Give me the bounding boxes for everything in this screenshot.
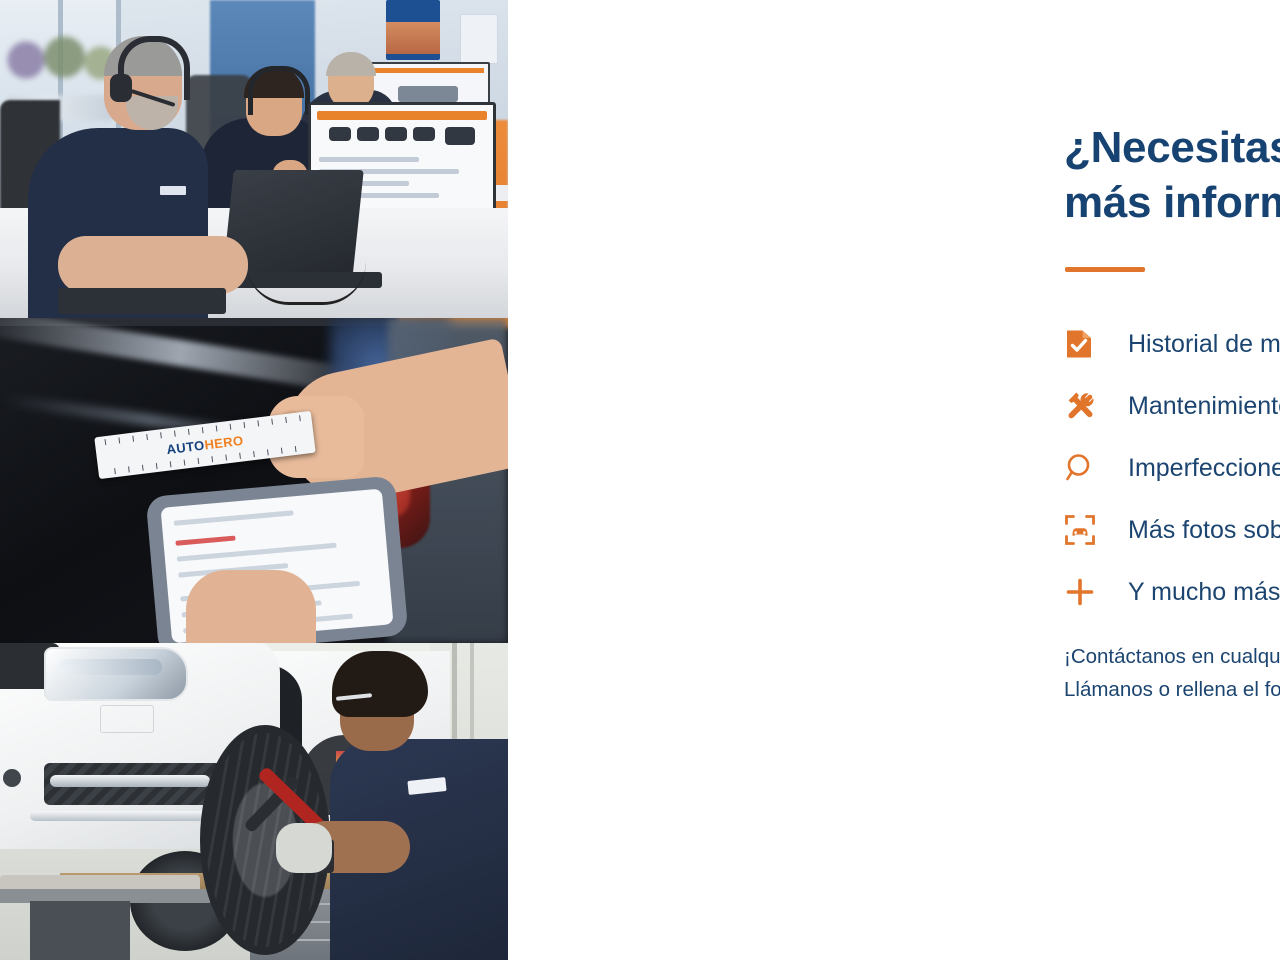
feature-label: Y mucho más: [1110, 580, 1280, 605]
uniform-logo: [160, 186, 186, 195]
agent-three-hair: [326, 52, 376, 76]
trees-outside: [4, 30, 114, 90]
contact-paragraph-line-2: Llámanos o rellena el formulario de cont…: [1064, 673, 1280, 706]
feature-item-more-photos: Más fotos sobre el coche: [1064, 499, 1280, 561]
feature-label: Imperfecciones: [1110, 456, 1280, 481]
checklist-icon: [1064, 327, 1110, 361]
work-glove: [276, 823, 332, 873]
car-inspection-ruler-photo: AUTOHERO: [0, 318, 508, 643]
technician-hair: [332, 651, 428, 717]
page-title: ¿Necesitas más información?: [1064, 120, 1280, 231]
feature-list: Historial de mantenimientos Mantenimient…: [1064, 313, 1280, 623]
wall-notice: [460, 14, 498, 64]
call-center-agents-photo: [0, 0, 508, 318]
magnifier-icon: [1064, 452, 1110, 484]
feature-item-imperfections: Imperfecciones: [1064, 437, 1280, 499]
fog-light: [3, 769, 21, 787]
tablet-on-desk: [58, 288, 226, 314]
photo-column: AUTOHERO: [0, 0, 508, 960]
feature-label: Mantenimiento realizado: [1110, 394, 1280, 419]
plus-icon: [1064, 576, 1110, 608]
autohero-ruler-logo: AUTOHERO: [166, 433, 245, 457]
feature-item-maintenance-done: Mantenimiento realizado: [1064, 375, 1280, 437]
inspector-second-hand: [186, 570, 316, 643]
car-lift-base: [30, 901, 130, 960]
feature-label: Más fotos sobre el coche: [1110, 518, 1280, 543]
page-title-line-2: más información?: [1064, 175, 1280, 230]
feature-item-service-history: Historial de mantenimientos: [1064, 313, 1280, 375]
contact-paragraph-line-1: ¡Contáctanos en cualquier momento para m…: [1064, 640, 1280, 673]
license-plate-area: [100, 705, 154, 733]
feature-label: Historial de mantenimientos: [1110, 332, 1280, 357]
tyre-service-photo: [0, 643, 508, 960]
chrome-trim: [50, 775, 210, 787]
contact-paragraph: ¡Contáctanos en cualquier momento para m…: [1064, 640, 1280, 706]
title-divider: [1065, 267, 1145, 272]
agent-one-arms: [58, 236, 248, 294]
headset-earcup: [110, 74, 132, 102]
car-photo-frame-icon: [1064, 514, 1110, 546]
info-panel-page: AUTOHERO: [0, 0, 1280, 960]
tools-icon: [1064, 389, 1110, 423]
info-content: Estamos encantados de darte más informac…: [508, 0, 1280, 960]
page-title-line-1: ¿Necesitas: [1064, 120, 1280, 175]
headlight-inner: [58, 659, 162, 675]
feature-item-much-more: Y mucho más: [1064, 561, 1280, 623]
wall-poster-image: [386, 22, 440, 54]
agent-two-headset-icon: [248, 66, 310, 115]
